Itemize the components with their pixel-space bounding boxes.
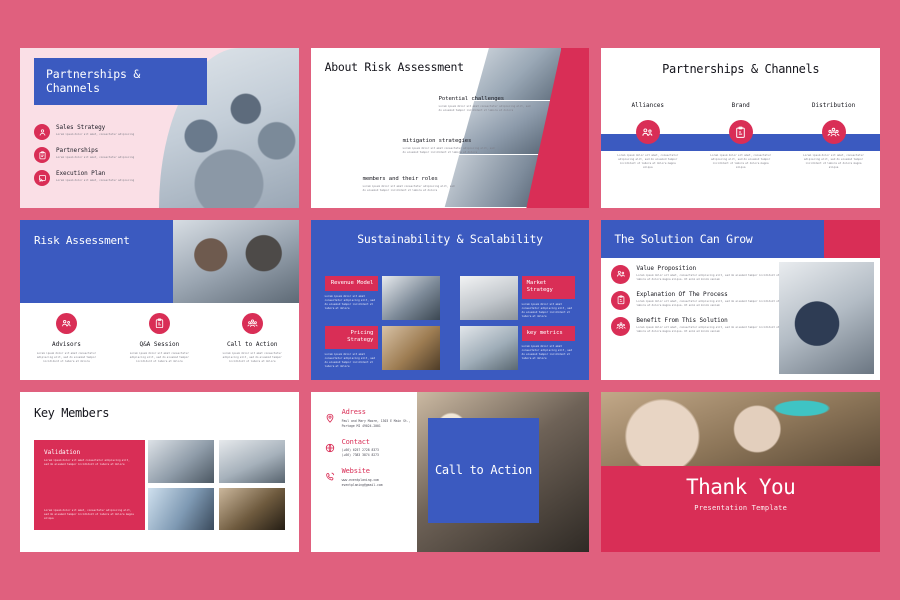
contact-panel: Adress Paul and Mary Moore, 1303 E Main …	[311, 392, 417, 552]
list-item[interactable]: Sales Strategy Lorem ipsum dolor sit ame…	[34, 124, 201, 140]
clipboard-icon	[34, 147, 50, 163]
validation-panel: Validation Lorem ipsum dolor sit amet co…	[34, 440, 145, 530]
meeting-photo	[173, 220, 298, 303]
column[interactable]: Q&A Session Lorem ipsum dolor sit amet c…	[113, 313, 206, 364]
column-body: Lorem ipsum dolor sit amet, consectetur …	[787, 154, 880, 170]
panel-body-top: Lorem ipsum dolor sit amet consectetur a…	[44, 459, 135, 467]
list-item-label: Sales Strategy	[56, 124, 134, 131]
group-icon	[242, 313, 263, 334]
list-item[interactable]: Benefit From This Solution Lorem ipsum d…	[611, 317, 784, 336]
group-icon	[611, 317, 630, 336]
clipboard-icon	[149, 313, 170, 334]
slide-title: Sustainability & Scalability	[311, 232, 590, 246]
quadrant-tag: Revenue Model	[325, 276, 379, 291]
notebook-photo	[601, 392, 880, 466]
slide-title: The Solution Can Grow	[601, 220, 824, 258]
column[interactable]: Advisors Lorem ipsum dolor sit amet cons…	[20, 313, 113, 364]
grid-photo	[148, 488, 214, 531]
list-item[interactable]: Partnerships Lorem ipsum dolor sit amet,…	[34, 147, 201, 163]
column[interactable]: Alliances Lorem ipsum dolor sit amet, co…	[601, 102, 694, 170]
contact-value: (+66) 6257 2728 8373 (+66) 7383 3874 827…	[342, 448, 379, 458]
thank-you-band: Thank You Presentation Template	[601, 466, 880, 552]
slide-title: Partnerships & Channels	[601, 62, 880, 76]
globe-icon	[325, 438, 336, 459]
slide-title: Risk Assessment	[20, 220, 173, 303]
column[interactable]: Call to Action Lorem ipsum dolor sit ame…	[206, 313, 299, 364]
column[interactable]: Brand Lorem ipsum dolor sit amet, consec…	[694, 102, 787, 170]
quadrant-body: Lorem ipsum dolor sit amet consectetur a…	[325, 295, 379, 311]
slide-the-solution-can-grow[interactable]: The Solution Can Grow Value Proposition …	[601, 220, 880, 380]
slide-partnerships-channels-cover[interactable]: Partnerships & Channels Sales Strategy L…	[20, 48, 299, 208]
photo-grid	[148, 440, 284, 530]
column-body: Lorem ipsum dolor sit amet, consectetur …	[601, 154, 694, 170]
quadrant-tag: key metrics	[522, 326, 576, 341]
thank-you-title: Thank You	[601, 476, 880, 498]
list-item-label: Execution Plan	[56, 170, 134, 177]
grid-photo	[219, 488, 285, 531]
call-to-action-box[interactable]: Call to Action	[428, 418, 539, 524]
clipboard-icon	[729, 120, 753, 144]
column-title: Call to Action	[206, 341, 299, 348]
contact-label: Website	[342, 467, 383, 475]
contact-label: Contact	[342, 438, 379, 446]
list-item-desc: Lorem ipsum dolor sit amet, consectetur …	[56, 133, 134, 137]
list-item-desc: Lorem ipsum dolor sit amet, consectetur …	[636, 300, 784, 308]
slide-title: Key Members	[34, 406, 109, 420]
clipboard-icon	[611, 291, 630, 310]
slide-risk-assessment[interactable]: Risk Assessment Advisors Lorem ipsum dol…	[20, 220, 299, 380]
quadrant-body: Lorem ipsum dolor sit amet consectetur a…	[522, 345, 576, 361]
list-item-label: Partnerships	[56, 147, 134, 154]
feature-list: Sales Strategy Lorem ipsum dolor sit ame…	[34, 124, 201, 193]
list-item-label: Benefit From This Solution	[636, 317, 784, 324]
users-pair-icon	[611, 265, 630, 284]
block-heading: mitigation strategies	[403, 138, 495, 144]
user-icon	[34, 124, 50, 140]
slide-title: Partnerships & Channels	[34, 58, 207, 105]
list-item-desc: Lorem ipsum dolor sit amet, consectetur …	[636, 326, 784, 334]
column-title: Advisors	[20, 341, 113, 348]
grid-photo	[219, 440, 285, 483]
quadrant[interactable]: Pricing Strategy Lorem ipsum dolor sit a…	[325, 326, 440, 370]
contact-group[interactable]: Adress Paul and Mary Moore, 1303 E Main …	[325, 408, 417, 429]
contact-label: Adress	[342, 408, 417, 416]
contact-value: Paul and Mary Moore, 1303 E Main St., Po…	[342, 419, 417, 429]
column-title: Distribution	[787, 102, 880, 109]
slide-thank-you[interactable]: Thank You Presentation Template	[601, 392, 880, 552]
column-body: Lorem ipsum dolor sit amet consectetur a…	[113, 352, 206, 364]
quadrant-photo	[460, 326, 518, 370]
list-item-label: Value Proposition	[636, 265, 784, 272]
feature-list: Value Proposition Lorem ipsum dolor sit …	[611, 265, 784, 343]
column-body: Lorem ipsum dolor sit amet consectetur a…	[206, 352, 299, 364]
quadrant-tag: Pricing Strategy	[325, 326, 379, 349]
quadrant-body: Lorem ipsum dolor sit amet consectetur a…	[522, 303, 576, 319]
quadrant-body: Lorem ipsum dolor sit amet consectetur a…	[325, 353, 379, 369]
slide-key-members[interactable]: Key Members Validation Lorem ipsum dolor…	[20, 392, 299, 552]
slide-title: About Risk Assessment	[325, 60, 464, 74]
grid-photo	[148, 440, 214, 483]
quadrant[interactable]: Market Strategy Lorem ipsum dolor sit am…	[460, 276, 575, 320]
slide-deck-preview: Partnerships & Channels Sales Strategy L…	[0, 0, 900, 600]
block-body: Lorem ipsum dolor sit amet consectetur a…	[363, 185, 455, 193]
contact-value: www.eventplaning.com eventplaning@gmail.…	[342, 478, 383, 488]
contact-group[interactable]: Website www.eventplaning.com eventplanin…	[325, 467, 417, 488]
panel-title: Validation	[44, 449, 135, 456]
list-item[interactable]: Execution Plan Lorem ipsum dolor sit ame…	[34, 170, 201, 186]
list-item-desc: Lorem ipsum dolor sit amet, consectetur …	[56, 179, 134, 183]
workspace-photo	[779, 262, 874, 374]
list-item-desc: Lorem ipsum dolor sit amet, consectetur …	[636, 274, 784, 282]
column-body: Lorem ipsum dolor sit amet, consectetur …	[694, 154, 787, 170]
quadrant-photo	[460, 276, 518, 320]
text-block: mitigation strategies Lorem ipsum dolor …	[403, 138, 495, 155]
location-pin-icon	[325, 408, 336, 429]
list-item[interactable]: Explanation Of The Process Lorem ipsum d…	[611, 291, 784, 310]
quadrant-grid: Revenue Model Lorem ipsum dolor sit amet…	[325, 276, 576, 370]
column-title: Brand	[694, 102, 787, 109]
block-heading: members and their roles	[363, 176, 455, 182]
text-block: members and their roles Lorem ipsum dolo…	[363, 176, 455, 193]
list-item-label: Explanation Of The Process	[636, 291, 784, 298]
slide-partnerships-channels-columns[interactable]: Partnerships & Channels Alliances Lorem …	[601, 48, 880, 208]
list-item-desc: Lorem ipsum dolor sit amet, consectetur …	[56, 156, 134, 160]
header-area: Risk Assessment	[20, 220, 299, 303]
thank-you-subtitle: Presentation Template	[601, 504, 880, 512]
quadrant-tag: Market Strategy	[522, 276, 576, 299]
contact-group[interactable]: Contact (+66) 6257 2728 8373 (+66) 7383 …	[325, 438, 417, 459]
block-body: Lorem ipsum dolor sit amet consectetur a…	[403, 147, 495, 155]
slide-about-risk-assessment[interactable]: About Risk Assessment Potential challeng…	[311, 48, 590, 208]
quadrant-photo	[382, 326, 440, 370]
column[interactable]: Distribution Lorem ipsum dolor sit amet,…	[787, 102, 880, 170]
column-group: Advisors Lorem ipsum dolor sit amet cons…	[20, 313, 299, 364]
users-pair-icon	[636, 120, 660, 144]
users-pair-icon	[56, 313, 77, 334]
slide-call-to-action[interactable]: Adress Paul and Mary Moore, 1303 E Main …	[311, 392, 590, 552]
column-title: Alliances	[601, 102, 694, 109]
block-heading: Potential challenges	[439, 96, 531, 102]
quadrant[interactable]: Revenue Model Lorem ipsum dolor sit amet…	[325, 276, 440, 320]
text-block: Potential challenges Lorem ipsum dolor s…	[439, 96, 531, 113]
quadrant[interactable]: key metrics Lorem ipsum dolor sit amet c…	[460, 326, 575, 370]
quadrant-photo	[382, 276, 440, 320]
group-icon	[822, 120, 846, 144]
column-group: Alliances Lorem ipsum dolor sit amet, co…	[601, 102, 880, 170]
block-body: Lorem ipsum dolor sit amet consectetur a…	[439, 105, 531, 113]
slide-sustainability-scalability[interactable]: Sustainability & Scalability Revenue Mod…	[311, 220, 590, 380]
column-body: Lorem ipsum dolor sit amet consectetur a…	[20, 352, 113, 364]
panel-body-bottom: Lorem ipsum dolor sit amet, consectetur …	[44, 509, 135, 521]
cast-icon	[34, 170, 50, 186]
column-title: Q&A Session	[113, 341, 206, 348]
list-item[interactable]: Value Proposition Lorem ipsum dolor sit …	[611, 265, 784, 284]
phone-ring-icon	[325, 467, 336, 488]
